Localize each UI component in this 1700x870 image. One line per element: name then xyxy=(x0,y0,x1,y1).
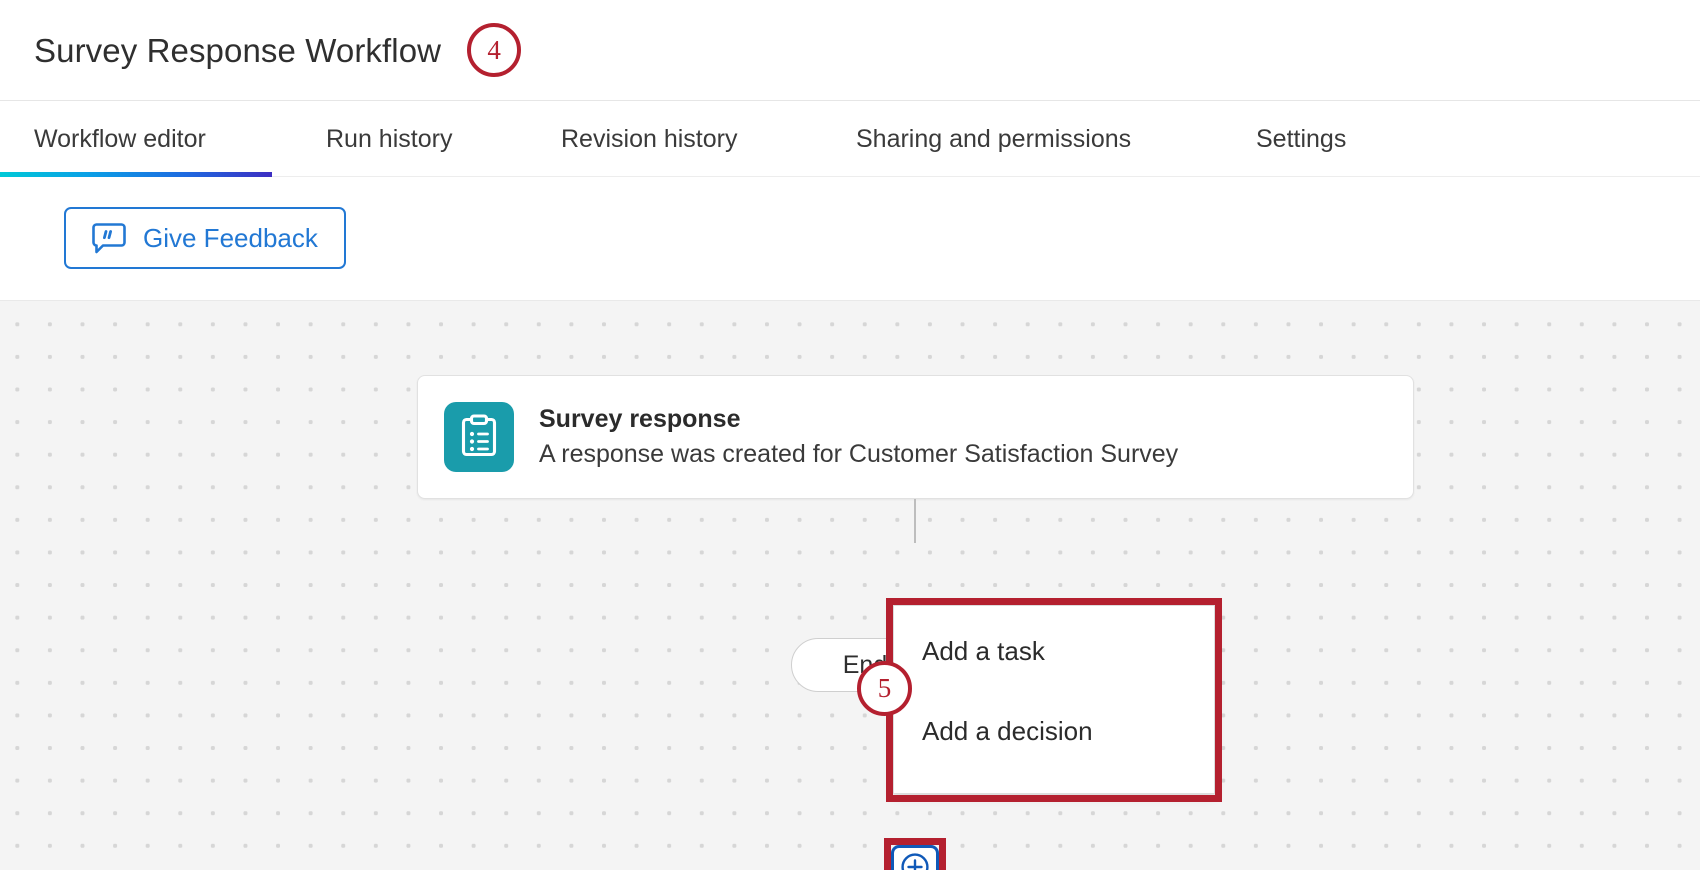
annotation-badge-4: 4 xyxy=(467,23,521,77)
trigger-node-title: Survey response xyxy=(539,406,1178,434)
add-step-button[interactable] xyxy=(891,845,939,870)
active-tab-underline xyxy=(0,172,272,177)
tab-bar: Workflow editor Run history Revision his… xyxy=(0,100,1700,177)
menu-item-add-a-decision[interactable]: Add a decision xyxy=(894,691,1214,771)
give-feedback-button[interactable]: Give Feedback xyxy=(64,207,346,269)
menu-item-label: Add a decision xyxy=(922,716,1093,747)
tab-list: Workflow editor Run history Revision his… xyxy=(0,101,1700,177)
workflow-canvas[interactable]: Survey response A response was created f… xyxy=(0,300,1700,870)
page-header: Survey Response Workflow 4 xyxy=(0,0,1700,100)
trigger-node-text: Survey response A response was created f… xyxy=(539,406,1178,468)
add-step-dropdown-menu[interactable]: Add a task Add a decision xyxy=(893,605,1215,794)
connector-line-top xyxy=(914,499,916,543)
tab-label: Sharing and permissions xyxy=(856,125,1131,154)
tab-settings[interactable]: Settings xyxy=(1256,101,1346,177)
clipboard-checklist-icon xyxy=(444,402,514,472)
tab-revision-history[interactable]: Revision history xyxy=(561,101,856,177)
trigger-node-description: A response was created for Customer Sati… xyxy=(539,441,1178,469)
menu-item-add-a-task[interactable]: Add a task xyxy=(894,611,1214,691)
annotation-badge-5: 5 xyxy=(857,661,912,716)
feedback-toolbar: Give Feedback xyxy=(0,177,1700,299)
tab-workflow-editor[interactable]: Workflow editor xyxy=(34,101,326,177)
tab-label: Revision history xyxy=(561,125,737,154)
tab-sharing-and-permissions[interactable]: Sharing and permissions xyxy=(856,101,1256,177)
tab-label: Run history xyxy=(326,125,452,154)
page-title: Survey Response Workflow xyxy=(34,34,441,67)
speech-bubble-quote-icon xyxy=(92,222,126,254)
menu-item-label: Add a task xyxy=(922,636,1045,667)
tab-run-history[interactable]: Run history xyxy=(326,101,561,177)
tab-label: Workflow editor xyxy=(34,125,206,154)
workflow-trigger-node[interactable]: Survey response A response was created f… xyxy=(417,375,1414,499)
tab-label: Settings xyxy=(1256,125,1346,154)
give-feedback-label: Give Feedback xyxy=(143,223,318,254)
plus-circle-icon xyxy=(900,852,930,870)
